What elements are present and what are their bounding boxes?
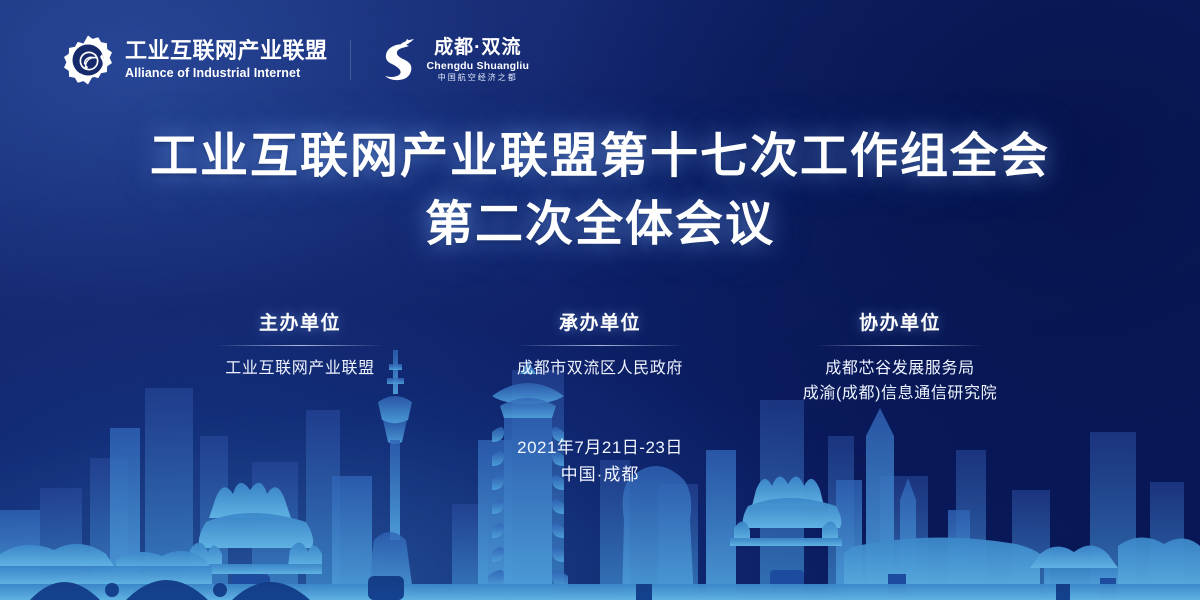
- logo-divider: [350, 40, 351, 80]
- csl-name-en: Chengdu Shuangliu: [427, 61, 530, 72]
- crown-pavilion-right: [730, 476, 842, 600]
- organizer-role: 协办单位: [750, 312, 1050, 336]
- title-line-1: 工业互联网产业联盟第十七次工作组全会: [0, 128, 1200, 186]
- organizer-name: 成都芯谷发展服务局: [750, 356, 1050, 381]
- event-date: 2021年7月21日-23日: [0, 434, 1200, 461]
- monument-base: [368, 576, 404, 600]
- organizer-column-host: 主办单位 工业互联网产业联盟: [150, 312, 450, 406]
- event-datetime-location: 2021年7月21日-23日 中国·成都: [0, 434, 1200, 488]
- organizer-section: 主办单位 工业互联网产业联盟 承办单位 成都市双流区人民政府 协办单位 成都芯谷…: [150, 312, 1050, 406]
- conference-banner: 工业互联网产业联盟 Alliance of Industrial Interne…: [0, 0, 1200, 600]
- csl-tagline: 中国航空经济之都: [438, 74, 518, 82]
- organizer-name: 成渝(成都)信息通信研究院: [750, 381, 1050, 406]
- logo-bar: 工业互联网产业联盟 Alliance of Industrial Interne…: [62, 34, 529, 86]
- event-place: 中国·成都: [0, 461, 1200, 488]
- logo-aii: 工业互联网产业联盟 Alliance of Industrial Interne…: [62, 34, 328, 86]
- event-title: 工业互联网产业联盟第十七次工作组全会 第二次全体会议: [0, 128, 1200, 254]
- organizer-role: 承办单位: [450, 312, 750, 336]
- gear-swirl-icon: [62, 34, 114, 86]
- aii-name-cn: 工业互联网产业联盟: [125, 40, 328, 62]
- s-swoosh-airplane-icon: [373, 37, 419, 83]
- organizer-divider: [516, 345, 684, 346]
- organizer-divider: [216, 345, 384, 346]
- organizer-divider: [816, 345, 984, 346]
- csl-name-cn: 成都·双流: [434, 38, 521, 57]
- organizer-column-cohost: 协办单位 成都芯谷发展服务局 成渝(成都)信息通信研究院: [750, 312, 1050, 406]
- title-line-2: 第二次全体会议: [0, 196, 1200, 254]
- organizer-column-undertaker: 承办单位 成都市双流区人民政府: [450, 312, 750, 406]
- organizer-name: 工业互联网产业联盟: [150, 356, 450, 381]
- logo-chengdu-shuangliu: 成都·双流 Chengdu Shuangliu 中国航空经济之都: [373, 37, 530, 83]
- organizer-role: 主办单位: [150, 312, 450, 336]
- aii-name-en: Alliance of Industrial Internet: [125, 67, 328, 80]
- organizer-name: 成都市双流区人民政府: [450, 356, 750, 381]
